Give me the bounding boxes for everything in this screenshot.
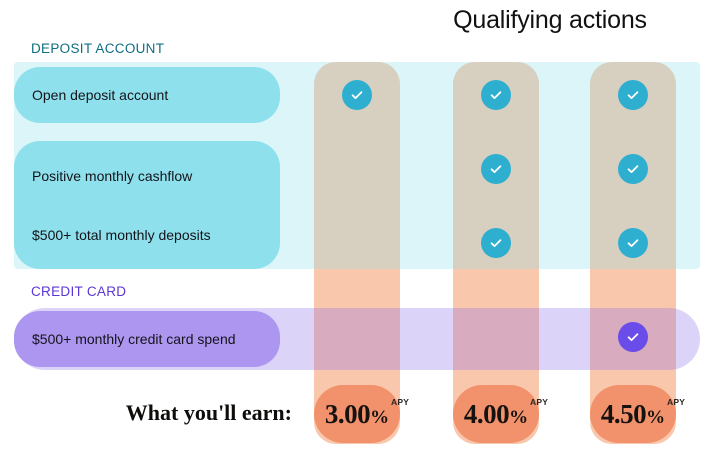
apy-pill-tier-1: 3.00%APY xyxy=(314,385,400,443)
apy-percent-tier-3: % xyxy=(646,407,665,428)
apy-suffix-tier-3: APY xyxy=(667,398,685,407)
requirement-positive-monthly-cashflow: Positive monthly cashflow xyxy=(32,168,192,184)
section-header-credit-card: CREDIT CARD xyxy=(31,284,126,299)
page-title: Qualifying actions xyxy=(400,6,700,35)
section-header-deposit-account: DEPOSIT ACCOUNT xyxy=(31,41,164,56)
apy-value-tier-1: 3.00%APY xyxy=(325,401,389,428)
apy-percent-tier-2: % xyxy=(509,407,528,428)
checkmark-icon xyxy=(618,154,648,184)
checkmark-icon xyxy=(481,154,511,184)
checkmark-icon xyxy=(342,80,372,110)
requirement-open-deposit-account: Open deposit account xyxy=(14,67,280,123)
apy-value-tier-3: 4.50%APY xyxy=(601,401,665,428)
qualifying-actions-infographic: DEPOSIT ACCOUNT CREDIT CARD Open deposit… xyxy=(0,0,720,466)
requirement-group-cashflow-deposits xyxy=(14,141,280,269)
apy-rate-tier-2: 4.00 xyxy=(464,399,509,429)
checkmark-icon xyxy=(481,228,511,258)
apy-rate-tier-3: 4.50 xyxy=(601,399,646,429)
checkmark-icon xyxy=(618,228,648,258)
earn-label: What you'll earn: xyxy=(20,400,292,426)
checkmark-icon xyxy=(481,80,511,110)
apy-suffix-tier-1: APY xyxy=(391,398,409,407)
apy-suffix-tier-2: APY xyxy=(530,398,548,407)
requirement-total-monthly-deposits: $500+ total monthly deposits xyxy=(32,227,211,243)
apy-percent-tier-1: % xyxy=(370,407,389,428)
requirement-monthly-credit-card-spend: $500+ monthly credit card spend xyxy=(14,311,280,367)
checkmark-icon xyxy=(618,322,648,352)
apy-value-tier-2: 4.00%APY xyxy=(464,401,528,428)
checkmark-icon xyxy=(618,80,648,110)
apy-pill-tier-3: 4.50%APY xyxy=(590,385,676,443)
apy-rate-tier-1: 3.00 xyxy=(325,399,370,429)
apy-pill-tier-2: 4.00%APY xyxy=(453,385,539,443)
